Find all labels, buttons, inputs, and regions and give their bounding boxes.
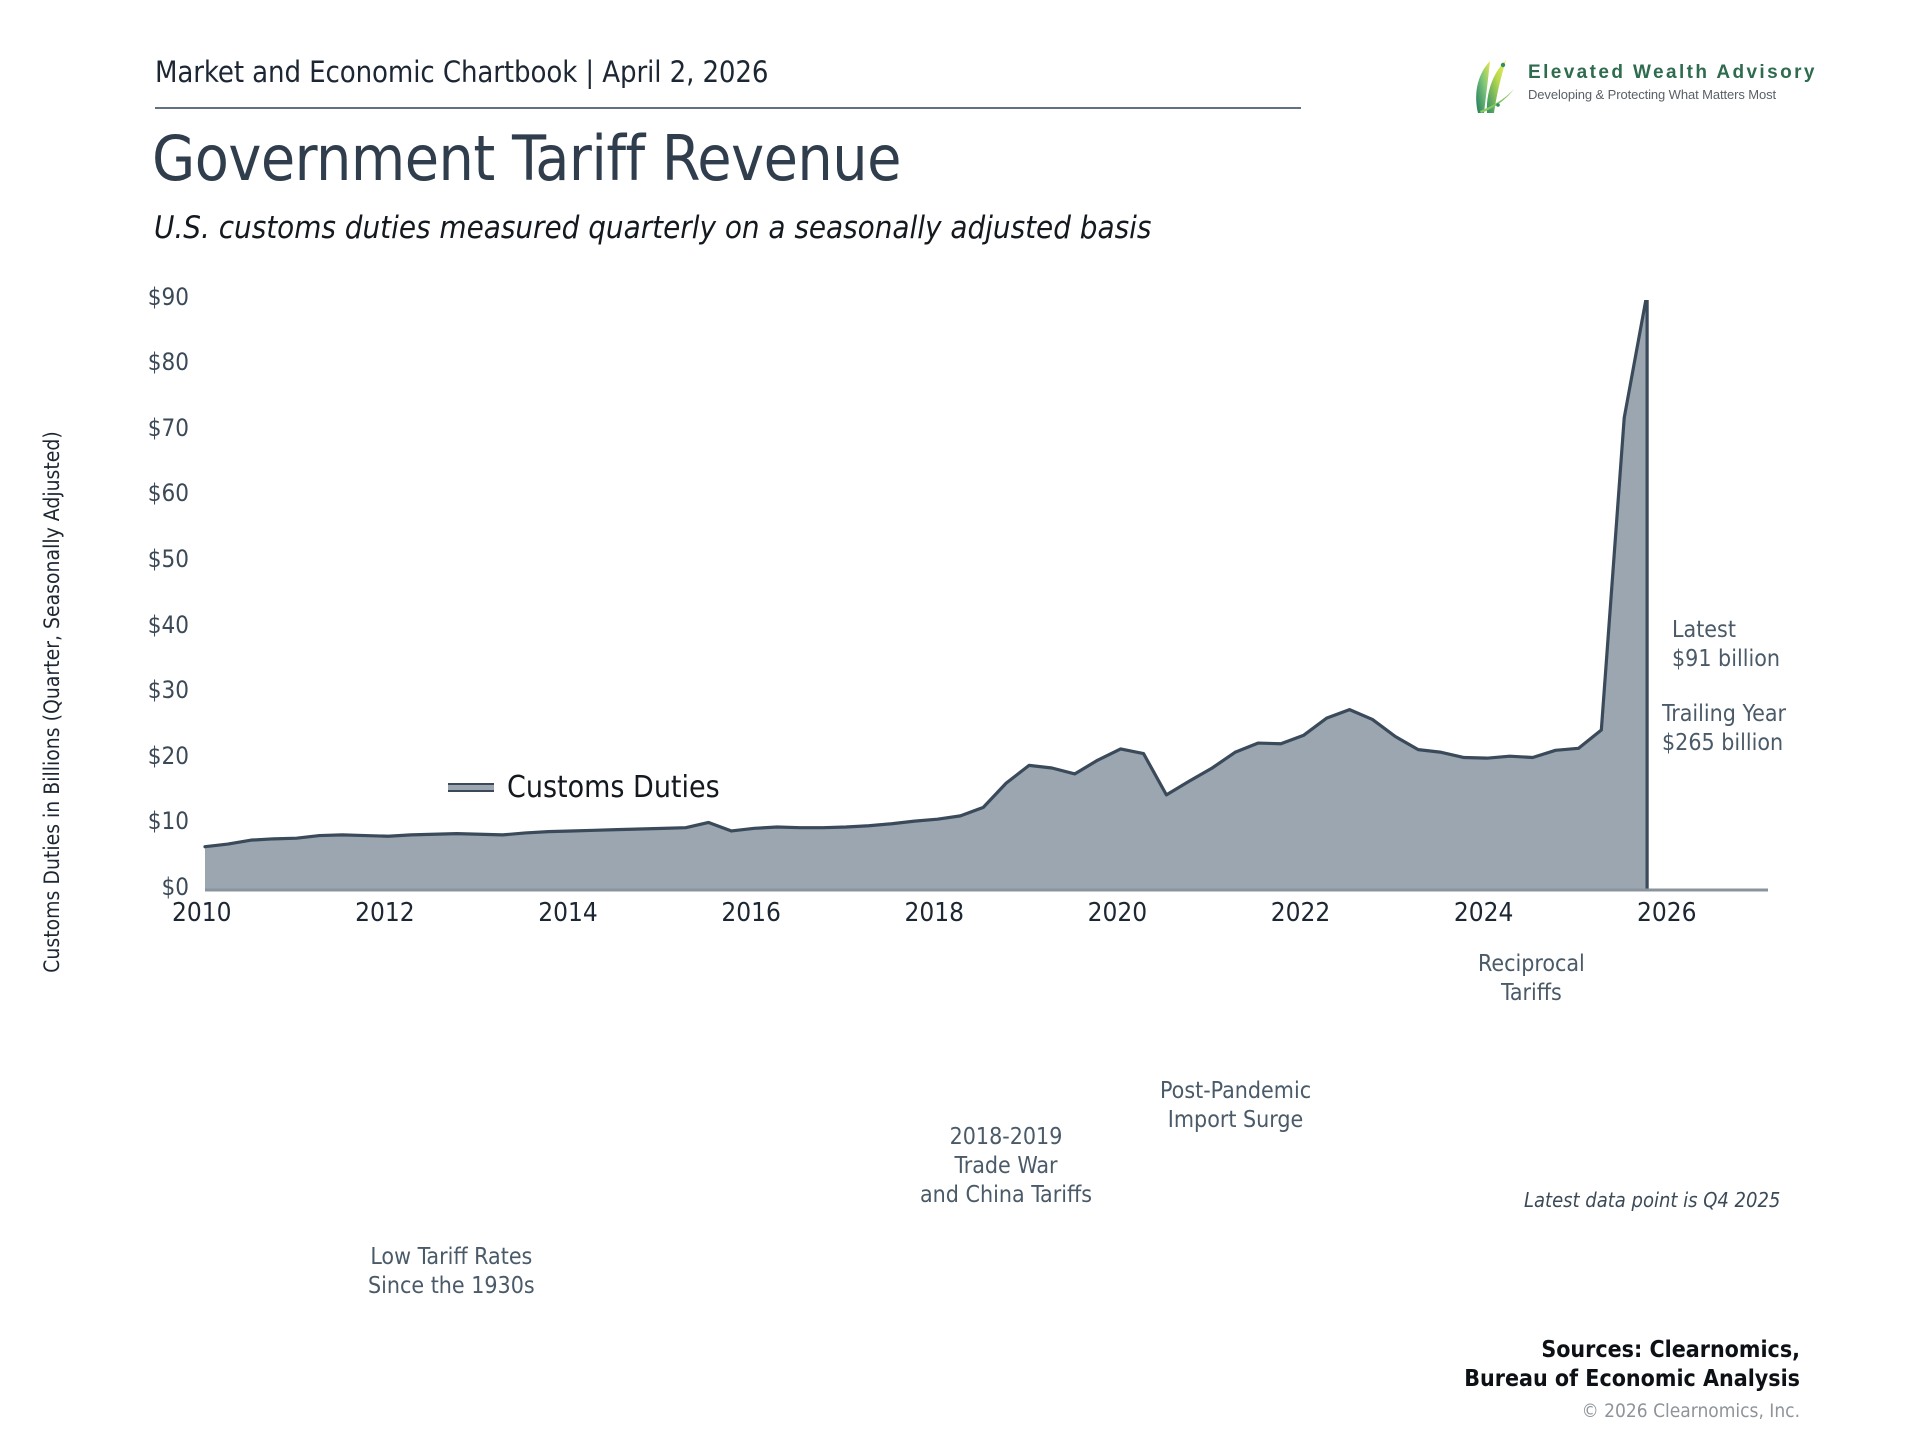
logo-company-name: Elevated Wealth Advisory	[1528, 62, 1817, 84]
y-tick-10: $10	[109, 807, 189, 835]
logo-text-block: Elevated Wealth Advisory Developing & Pr…	[1528, 62, 1817, 102]
x-tick-2022: 2022	[1271, 898, 1331, 928]
sources-line-1: Sources: Clearnomics,	[1464, 1336, 1800, 1365]
y-tick-40: $40	[109, 611, 189, 639]
y-tick-70: $70	[109, 414, 189, 442]
x-tick-2016: 2016	[721, 898, 781, 928]
x-tick-2026: 2026	[1637, 898, 1697, 928]
y-tick-50: $50	[109, 545, 189, 573]
logo-tagline: Developing & Protecting What Matters Mos…	[1528, 87, 1817, 102]
legend-label-customs-duties: Customs Duties	[507, 770, 720, 805]
page-title: Government Tariff Revenue	[152, 122, 901, 195]
chartbook-label: Market and Economic Chartbook | April 2,…	[155, 55, 1300, 89]
x-tick-2024: 2024	[1454, 898, 1514, 928]
sources-line-2: Bureau of Economic Analysis	[1464, 1365, 1800, 1394]
leaf-swoosh-icon	[1470, 56, 1526, 116]
area-chart-plot	[0, 300, 1920, 1130]
y-tick-30: $30	[109, 676, 189, 704]
annotation-trade-war: 2018-2019Trade Warand China Tariffs	[920, 1123, 1092, 1210]
sources-block: Sources: Clearnomics, Bureau of Economic…	[1464, 1336, 1800, 1422]
y-tick-60: $60	[109, 479, 189, 507]
x-tick-2014: 2014	[538, 898, 598, 928]
chart-slide: Market and Economic Chartbook | April 2,…	[0, 0, 1920, 1440]
x-tick-2010: 2010	[172, 898, 232, 928]
annotation-post-pandemic: Post-PandemicImport Surge	[1160, 1077, 1311, 1135]
page-subtitle: U.S. customs duties measured quarterly o…	[154, 210, 1151, 246]
annotation-reciprocal-tariffs: ReciprocalTariffs	[1478, 950, 1585, 1008]
chart-legend: Customs Duties	[448, 770, 720, 805]
legend-swatch-customs-duties	[448, 783, 494, 792]
annotation-latest-value: Latest$91 billion	[1672, 616, 1780, 674]
copyright-notice: © 2026 Clearnomics, Inc.	[1464, 1400, 1800, 1422]
x-tick-2020: 2020	[1088, 898, 1148, 928]
y-tick-80: $80	[109, 348, 189, 376]
y-tick-20: $20	[109, 742, 189, 770]
chart-footnote: Latest data point is Q4 2025	[1524, 1188, 1780, 1212]
x-tick-2012: 2012	[355, 898, 415, 928]
annotation-trailing-year: Trailing Year$265 billion	[1662, 700, 1786, 758]
y-tick-90: $90	[109, 283, 189, 311]
slide-header: Market and Economic Chartbook | April 2,…	[155, 55, 1300, 89]
annotation-low-tariff-rates: Low Tariff RatesSince the 1930s	[368, 1243, 535, 1301]
y-tick-0: $0	[109, 873, 189, 901]
x-tick-2018: 2018	[905, 898, 965, 928]
chart-container: Customs Duties in Billions (Quarter, Sea…	[0, 300, 1920, 1130]
header-divider	[155, 107, 1301, 109]
company-logo: Elevated Wealth Advisory Developing & Pr…	[1470, 56, 1810, 116]
